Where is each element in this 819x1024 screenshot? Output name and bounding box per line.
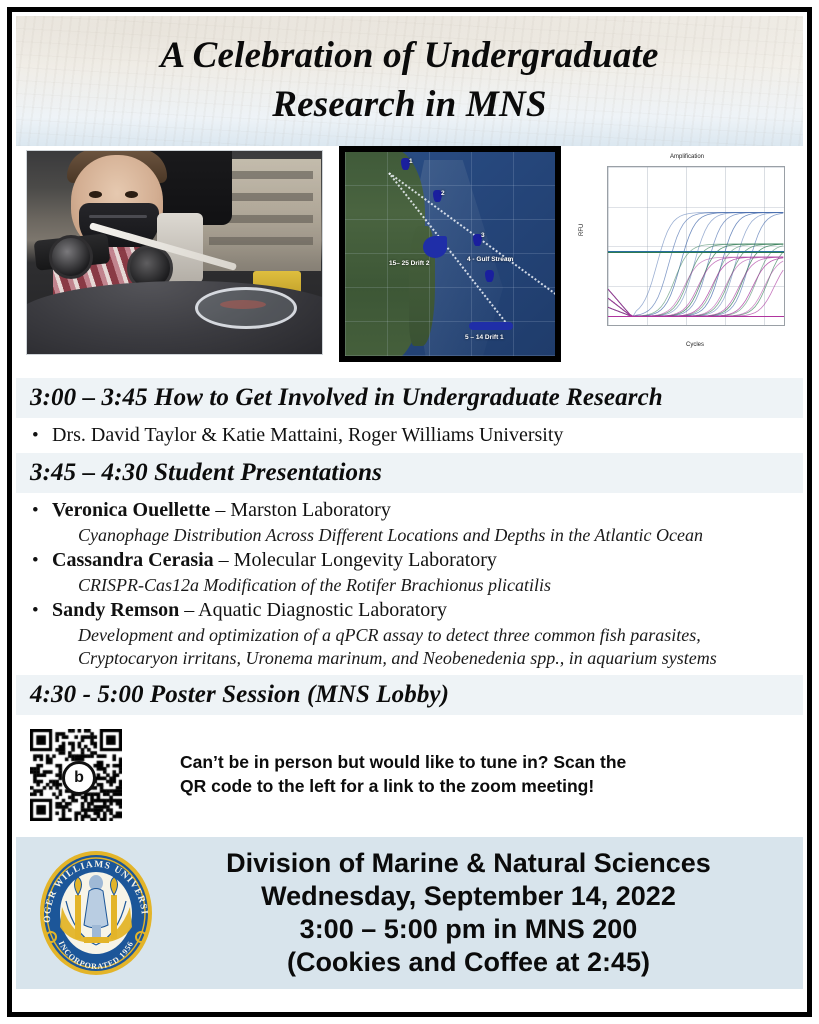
qr-instructions-line-2: QR code to the left for a link to the zo… (180, 775, 626, 799)
drifter-track-map: 1 2 3 4 - Gulf Stream 15– 25 Drift 2 5 –… (339, 146, 561, 362)
map-label-drift-2: 15– 25 Drift 2 (389, 260, 429, 267)
presentation-title: Cyanophage Distribution Across Different… (16, 524, 803, 547)
page-title: A Celebration of Undergraduate Research … (16, 16, 803, 130)
map-label-drift-1: 5 – 14 Drift 1 (465, 334, 504, 341)
presenter-name: Veronica Ouellette (52, 499, 210, 521)
schedule-heading-text: 3:45 – 4:30 Student Presentations (30, 459, 803, 487)
bullet-icon: • (32, 426, 52, 445)
map-drift1-cluster (469, 322, 513, 330)
chart-threshold-line (608, 316, 784, 317)
lab-photo (26, 150, 323, 355)
qr-instructions-line-1: Can’t be in person but would like to tun… (180, 751, 626, 775)
bullet-icon: • (32, 501, 52, 520)
schedule-heading-session-involvement: 3:00 – 3:45 How to Get Involved in Under… (16, 378, 803, 418)
presenter-name: Cassandra Cerasia (52, 549, 214, 571)
chart-y-axis-label: RFU (579, 224, 585, 236)
map-label-3: 3 (481, 232, 485, 239)
poster-title-block: A Celebration of Undergraduate Research … (16, 16, 803, 146)
microscope-focus-knob-decor (49, 235, 93, 279)
image-strip: 1 2 3 4 - Gulf Stream 15– 25 Drift 2 5 –… (16, 146, 803, 368)
presentation-title: Development and optimization of a qPCR a… (16, 624, 803, 671)
footer-line-time: 3:00 – 5:00 pm in MNS 200 (160, 913, 777, 946)
chart-gridline-horizontal (608, 325, 784, 326)
footer-line-date: Wednesday, September 14, 2022 (160, 880, 777, 913)
schedule-items: •Drs. David Taylor & Katie Mattaini, Rog… (16, 422, 803, 449)
chart-curve (608, 261, 783, 316)
university-seal-svg: ROGER WILLIAMS UNIVERSITY INCORPORATED 1… (32, 845, 160, 981)
list-item: •Cassandra Cerasia – Molecular Longevity… (16, 547, 803, 574)
schedule-list: 3:00 – 3:45 How to Get Involved in Under… (16, 368, 803, 715)
schedule-heading-session-poster: 4:30 - 5:00 Poster Session (MNS Lobby) (16, 675, 803, 715)
person-eye-right-decor (125, 191, 138, 198)
bullet-icon: • (32, 551, 52, 570)
footer-line-refreshments: (Cookies and Coffee at 2:45) (160, 946, 777, 979)
qpcr-amplification-plot: Amplification RFU Cycles 010203040101102… (573, 150, 801, 362)
schedule-heading-session-presentations: 3:45 – 4:30 Student Presentations (16, 453, 803, 493)
chart-x-axis-label: Cycles (607, 342, 783, 348)
map-label-2: 2 (441, 190, 445, 197)
presenter-line: Drs. David Taylor & Katie Mattaini, Roge… (52, 423, 563, 448)
map-label-gulf-stream: 4 - Gulf Stream (467, 256, 513, 263)
footer-details: Division of Marine & Natural Sciences We… (160, 847, 803, 979)
page-title-line-1: A Celebration of Undergraduate (160, 35, 658, 76)
list-item: •Drs. David Taylor & Katie Mattaini, Rog… (16, 422, 803, 449)
petri-dish-decor (195, 287, 297, 329)
person-eye-left-decor (89, 191, 102, 198)
poster-page: A Celebration of Undergraduate Research … (16, 16, 803, 1008)
footer-band: ROGER WILLIAMS UNIVERSITY INCORPORATED 1… (16, 837, 803, 989)
qr-code[interactable]: b (30, 729, 122, 821)
poster-root: A Celebration of Undergraduate Research … (0, 0, 819, 1024)
map-graticule-grid (345, 152, 555, 356)
presenter-line: Sandy Remson – Aquatic Diagnostic Labora… (52, 598, 447, 623)
presentation-title: CRISPR-Cas12a Modification of the Rotife… (16, 574, 803, 597)
presenter-affiliation: – Marston Laboratory (210, 499, 391, 521)
chart-curve (608, 246, 783, 317)
chart-curve (608, 270, 783, 316)
map-pin-4 (485, 270, 494, 282)
chart-series-layer (608, 167, 784, 325)
page-title-line-2: Research in MNS (272, 84, 546, 125)
presenter-line: Cassandra Cerasia – Molecular Longevity … (52, 548, 497, 573)
chart-curve (608, 257, 783, 316)
list-item: •Veronica Ouellette – Marston Laboratory (16, 497, 803, 524)
presenter-affiliation: – Molecular Longevity Laboratory (214, 549, 497, 571)
presenter-affiliation: – Aquatic Diagnostic Laboratory (179, 599, 447, 621)
presenter-affiliation: Drs. David Taylor & Katie Mattaini, Roge… (52, 424, 563, 446)
qr-instructions: Can’t be in person but would like to tun… (180, 751, 626, 798)
footer-line-division: Division of Marine & Natural Sciences (160, 847, 777, 880)
map-label-1: 1 (409, 158, 413, 165)
chart-curve (608, 257, 783, 316)
chart-plot-area: 010203040101102103104105 (607, 166, 785, 326)
schedule-heading-text: 4:30 - 5:00 Poster Session (MNS Lobby) (30, 681, 803, 709)
bullet-icon: • (32, 601, 52, 620)
list-item: •Sandy Remson – Aquatic Diagnostic Labor… (16, 597, 803, 624)
chart-curve (608, 257, 783, 316)
chart-curve (608, 257, 783, 316)
chart-title: Amplification (573, 154, 801, 160)
schedule-heading-text: 3:00 – 3:45 How to Get Involved in Under… (30, 384, 803, 412)
schedule-items: •Veronica Ouellette – Marston Laboratory… (16, 497, 803, 671)
qr-section: b Can’t be in person but would like to t… (16, 717, 803, 831)
presenter-line: Veronica Ouellette – Marston Laboratory (52, 498, 391, 523)
chart-threshold-line (608, 252, 784, 253)
chart-curve (608, 257, 783, 316)
bitly-logo-icon: b (62, 761, 96, 795)
university-seal: ROGER WILLIAMS UNIVERSITY INCORPORATED 1… (32, 845, 160, 981)
presenter-name: Sandy Remson (52, 599, 179, 621)
map-drift2-cluster (423, 236, 447, 258)
